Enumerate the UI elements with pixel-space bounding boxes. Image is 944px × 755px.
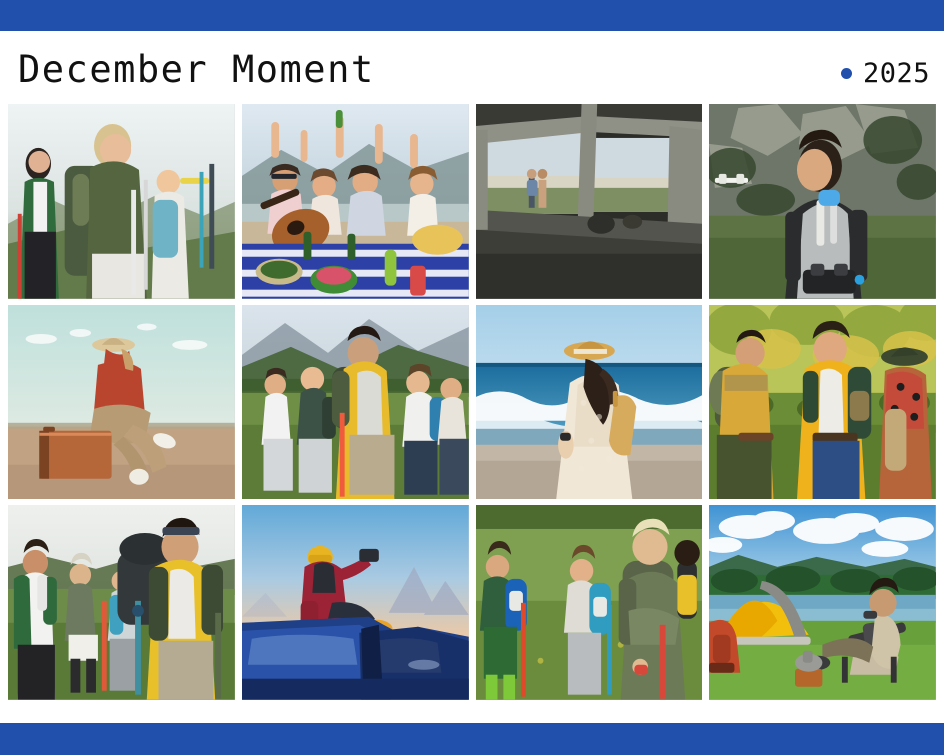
photo-cell-5[interactable] bbox=[8, 305, 235, 500]
photo-11-image bbox=[476, 505, 703, 700]
page-title: December Moment bbox=[18, 48, 375, 91]
dot-icon bbox=[841, 68, 852, 79]
photo-cell-12[interactable] bbox=[709, 505, 936, 700]
photo-cell-3[interactable] bbox=[476, 104, 703, 299]
photo-8-image bbox=[709, 305, 936, 500]
photo-cell-9[interactable] bbox=[8, 505, 235, 700]
top-accent-bar bbox=[0, 0, 944, 31]
photo-cell-2[interactable] bbox=[242, 104, 469, 299]
photo-cell-6[interactable] bbox=[242, 305, 469, 500]
photo-2-image bbox=[242, 104, 469, 299]
calendar-page: December Moment 2025 bbox=[0, 0, 944, 755]
year-badge: 2025 bbox=[841, 58, 930, 89]
photo-7-image bbox=[476, 305, 703, 500]
photo-cell-11[interactable] bbox=[476, 505, 703, 700]
photo-10-image bbox=[242, 505, 469, 700]
photo-cell-1[interactable] bbox=[8, 104, 235, 299]
photo-cell-8[interactable] bbox=[709, 305, 936, 500]
photo-cell-10[interactable] bbox=[242, 505, 469, 700]
photo-cell-4[interactable] bbox=[709, 104, 936, 299]
year-label: 2025 bbox=[863, 58, 930, 89]
photo-9-image bbox=[8, 505, 235, 700]
photo-3-image bbox=[476, 104, 703, 299]
bottom-accent-bar bbox=[0, 723, 944, 755]
photo-cell-7[interactable] bbox=[476, 305, 703, 500]
photo-grid bbox=[8, 104, 936, 700]
photo-12-image bbox=[709, 505, 936, 700]
photo-4-image bbox=[709, 104, 936, 299]
photo-6-image bbox=[242, 305, 469, 500]
photo-5-image bbox=[8, 305, 235, 500]
page-header: December Moment 2025 bbox=[0, 31, 944, 103]
photo-1-image bbox=[8, 104, 235, 299]
